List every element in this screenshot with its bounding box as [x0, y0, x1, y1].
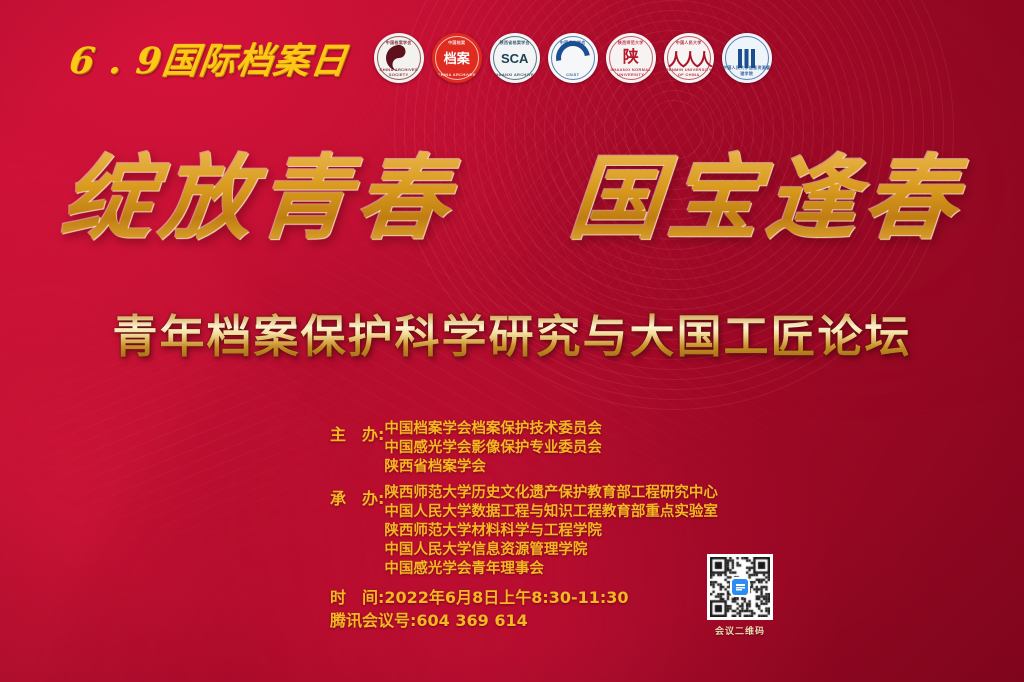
host-item: 陕西师范大学材料科学与工程学院	[384, 522, 718, 541]
logo-bottom-text: CHINA ARCHIVES SOCIETY	[374, 67, 424, 77]
logo-bottom-text: SHAANXI NORMAL UNIVERSITY	[606, 67, 656, 77]
page-title: 绽放青春 国宝逢春	[0, 150, 1024, 247]
event-time: 时 间:2022年6月8日上午8:30-11:30	[330, 586, 718, 609]
host-item: 中国感光学会青年理事会	[384, 560, 718, 579]
csist-logo[interactable]: 中国感光学会CSIST	[548, 33, 598, 83]
organizer-item: 陕西省档案学会	[384, 458, 602, 477]
page-subtitle: 青年档案保护科学研究与大国工匠论坛	[0, 300, 1024, 365]
title-part-2: 国宝逢春	[565, 144, 966, 252]
organizer-item: 中国档案学会档案保护技术委员会	[384, 420, 602, 439]
logo-top-text: 陕西师范大学	[606, 40, 656, 46]
institution-logo-row: 中国档案学会CHINA ARCHIVES SOCIETY中国档案档案CHINA …	[374, 33, 772, 83]
logo-mark: 陕	[623, 50, 639, 66]
logo-bottom-text: CHINA ARCHIVES	[432, 72, 482, 77]
sca-logo[interactable]: 陕西省档案学会SCASHAANXI ARCHIVES	[490, 33, 540, 83]
china-archives-logo[interactable]: 中国档案档案CHINA ARCHIVES	[432, 33, 482, 83]
host-item: 中国人民大学信息资源管理学院	[384, 541, 718, 560]
shaanxi-normal-university-logo[interactable]: 陕西师范大学陕SHAANXI NORMAL UNIVERSITY	[606, 33, 656, 83]
renmin-university-logo[interactable]: 中国人民大学人人人RENMIN UNIVERSITY OF CHINA	[664, 33, 714, 83]
partner-institute-logo[interactable]: 中国人民大学信息资源管理学院	[722, 33, 772, 83]
host-list: 陕西师范大学历史文化遗产保护教育部工程研究中心中国人民大学数据工程与知识工程教育…	[384, 484, 718, 579]
qr-code-image[interactable]	[707, 554, 773, 620]
organizer-row: 主 办: 中国档案学会档案保护技术委员会中国感光学会影像保护专业委员会陕西省档案…	[330, 420, 718, 477]
qr-code-block[interactable]: 会议二维码	[704, 554, 776, 637]
event-info-block: 主 办: 中国档案学会档案保护技术委员会中国感光学会影像保护专业委员会陕西省档案…	[330, 420, 718, 632]
host-item: 陕西师范大学历史文化遗产保护教育部工程研究中心	[384, 484, 718, 503]
logo-bottom-text: SHAANXI ARCHIVES	[490, 72, 540, 77]
international-archives-day-logo: 6 . 9国际档案日	[67, 32, 351, 84]
qr-caption: 会议二维码	[704, 624, 776, 637]
organizer-label: 主 办:	[330, 420, 384, 445]
meeting-number: 腾讯会议号:604 369 614	[330, 609, 718, 632]
meeting-icon	[732, 579, 748, 595]
host-item: 中国人民大学数据工程与知识工程教育部重点实验室	[384, 503, 718, 522]
poster-canvas: 6 . 9国际档案日 中国档案学会CHINA ARCHIVES SOCIETY中…	[0, 0, 1024, 682]
china-archives-society-logo[interactable]: 中国档案学会CHINA ARCHIVES SOCIETY	[374, 33, 424, 83]
logo-mark: 档案	[444, 52, 470, 65]
title-part-1: 绽放青春	[57, 144, 458, 252]
host-label: 承 办:	[330, 484, 384, 509]
logo-bottom-text: 中国人民大学信息资源管理学院	[722, 65, 772, 77]
organizer-item: 中国感光学会影像保护专业委员会	[384, 439, 602, 458]
logo-bottom-text: RENMIN UNIVERSITY OF CHINA	[664, 67, 714, 77]
logo-bottom-text: CSIST	[548, 72, 598, 77]
organizer-list: 中国档案学会档案保护技术委员会中国感光学会影像保护专业委员会陕西省档案学会	[384, 420, 602, 477]
logo-top-text: 中国档案	[432, 40, 482, 46]
logo-top-text: 陕西省档案学会	[490, 40, 540, 46]
header-bar: 6 . 9国际档案日 中国档案学会CHINA ARCHIVES SOCIETY中…	[0, 24, 1024, 92]
logo-mark: SCA	[501, 52, 528, 65]
host-row: 承 办: 陕西师范大学历史文化遗产保护教育部工程研究中心中国人民大学数据工程与知…	[330, 484, 718, 579]
